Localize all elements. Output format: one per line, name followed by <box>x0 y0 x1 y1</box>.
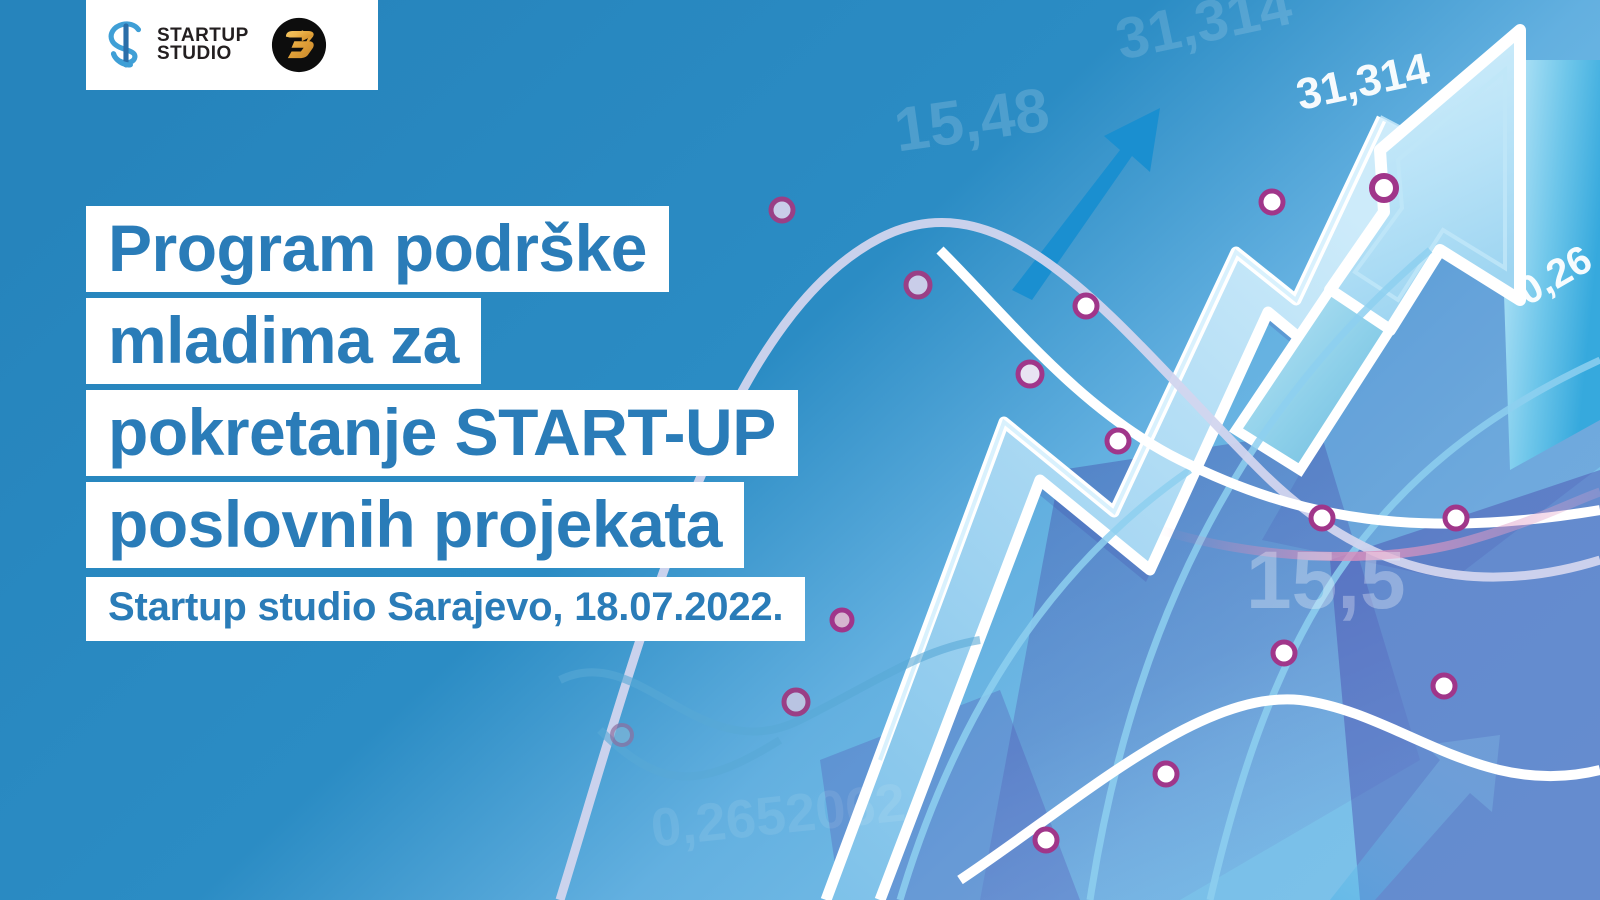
b-monogram-icon <box>271 17 327 73</box>
subtitle-text: Startup studio Sarajevo, 18.07.2022. <box>86 577 805 641</box>
headline-block: Program podrške mladima za pokretanje ST… <box>86 206 805 641</box>
headline-row: pokretanje START-UP <box>86 390 805 476</box>
subtitle-row: Startup studio Sarajevo, 18.07.2022. <box>86 577 805 641</box>
logo-bar: STARTUP STUDIO <box>86 0 378 90</box>
headline-row: mladima za <box>86 298 805 384</box>
logo-line-2: STUDIO <box>157 45 249 63</box>
startup-studio-logo: STARTUP STUDIO <box>104 19 249 71</box>
headline-row: Program podrške <box>86 206 805 292</box>
headline-row: poslovnih projekata <box>86 482 805 568</box>
headline-line-4: poslovnih projekata <box>86 482 744 568</box>
startup-studio-wordmark: STARTUP STUDIO <box>157 27 249 63</box>
poster: 15,48 31,314 31,314 0,26 15,5 0,2652062 … <box>0 0 1600 900</box>
headline-line-3: pokretanje START-UP <box>86 390 798 476</box>
headline-line-2: mladima za <box>86 298 481 384</box>
headline-line-1: Program podrške <box>86 206 669 292</box>
background-number: 15,5 <box>1246 534 1406 628</box>
s-monogram-icon <box>104 19 148 71</box>
